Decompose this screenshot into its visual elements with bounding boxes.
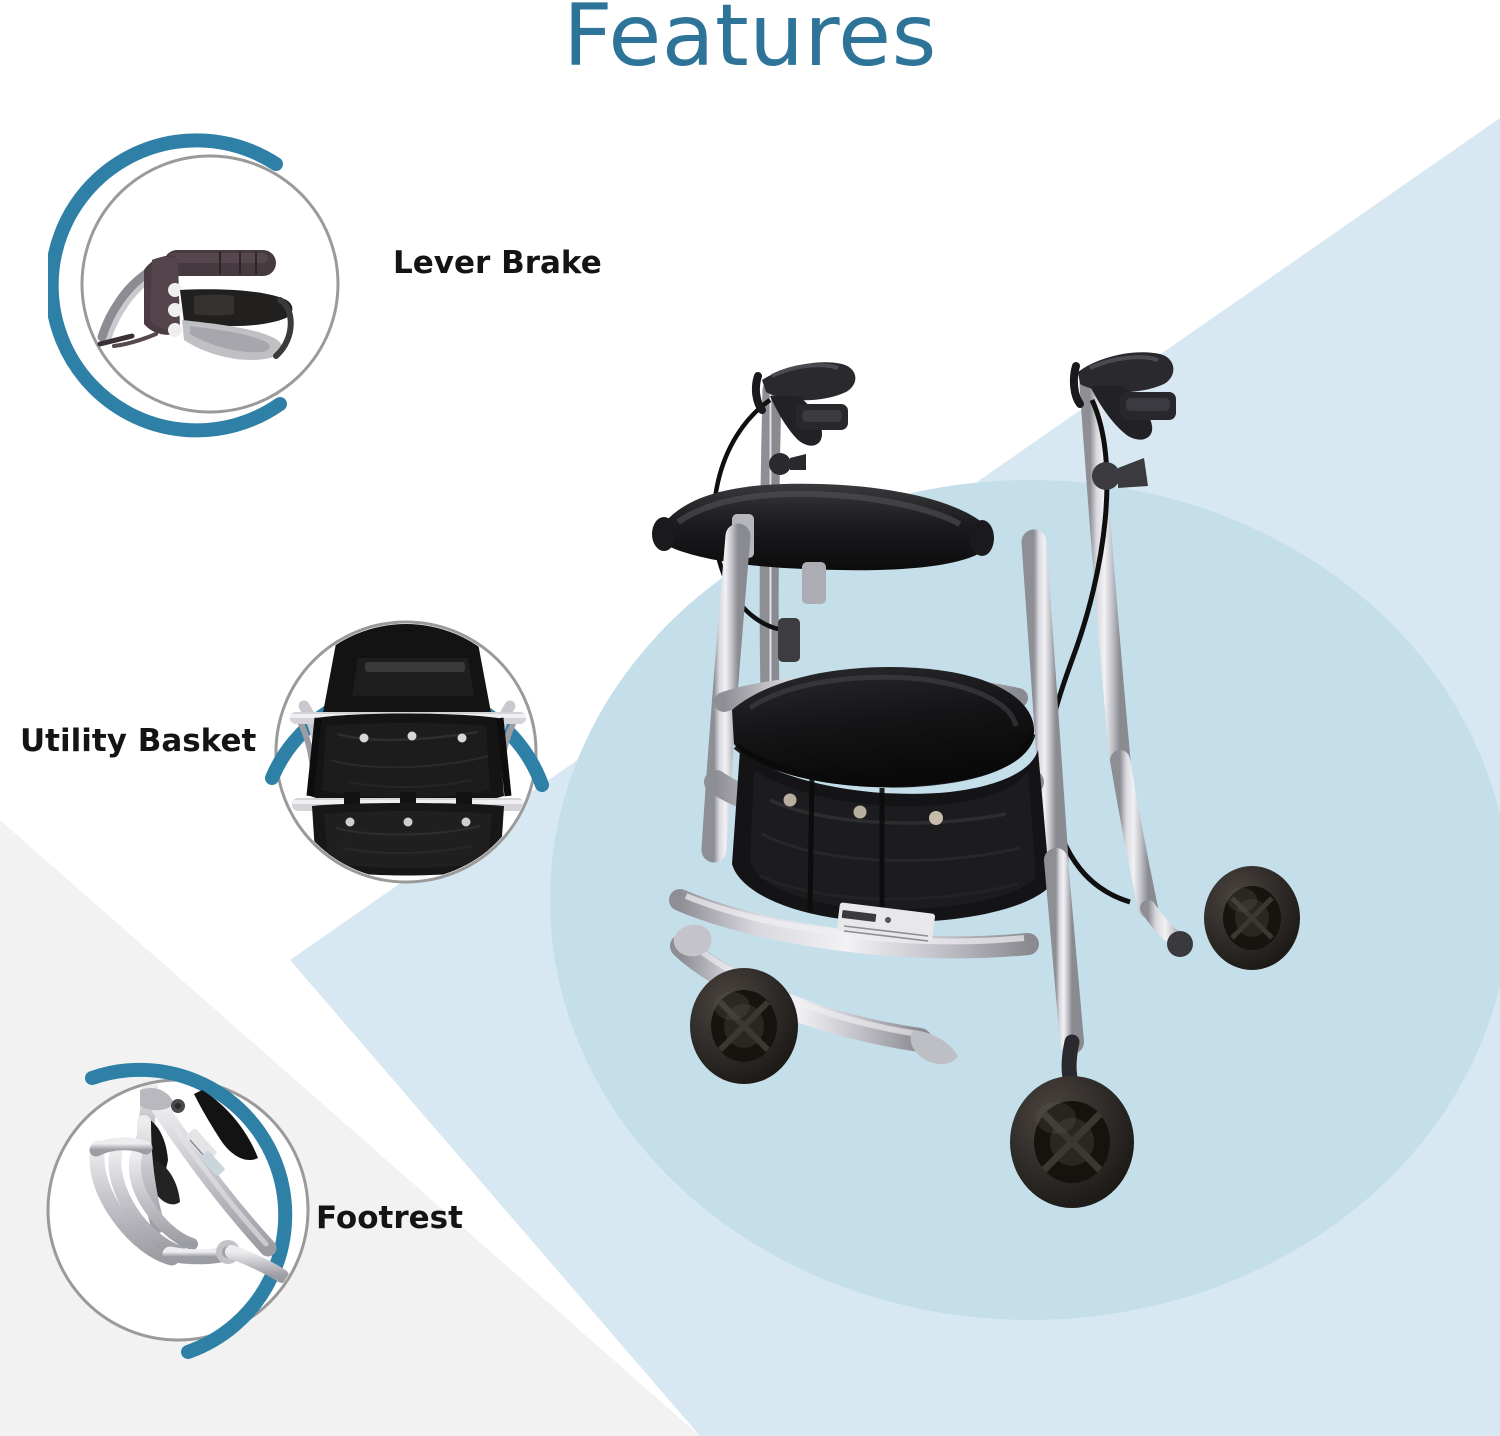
- features-infographic: Features: [0, 0, 1500, 1436]
- backrest: [652, 484, 994, 570]
- footrest-circle-frame: [32, 1062, 332, 1362]
- feature-footrest: Footrest: [32, 1062, 332, 1362]
- utility-basket-circle-frame: [260, 600, 560, 900]
- gray-ring: [48, 1080, 308, 1340]
- feature-utility-basket: Utility Basket: [260, 600, 560, 900]
- seat-cushion: [732, 667, 1034, 787]
- feature-utility-basket-label: Utility Basket: [20, 723, 256, 759]
- feature-footrest-label: Footrest: [316, 1200, 463, 1236]
- gray-ring: [82, 156, 338, 412]
- lever-brake-circle-frame: [48, 132, 358, 442]
- wheel-rear-right: [1204, 866, 1300, 970]
- feature-lever-brake-label: Lever Brake: [393, 245, 602, 281]
- rollator-walker-photo: [620, 330, 1400, 1230]
- feature-lever-brake: Lever Brake: [48, 132, 358, 442]
- wheel-front-right: [1010, 1076, 1134, 1208]
- wheel-rear-left: [690, 968, 798, 1084]
- page-title: Features: [0, 0, 1500, 86]
